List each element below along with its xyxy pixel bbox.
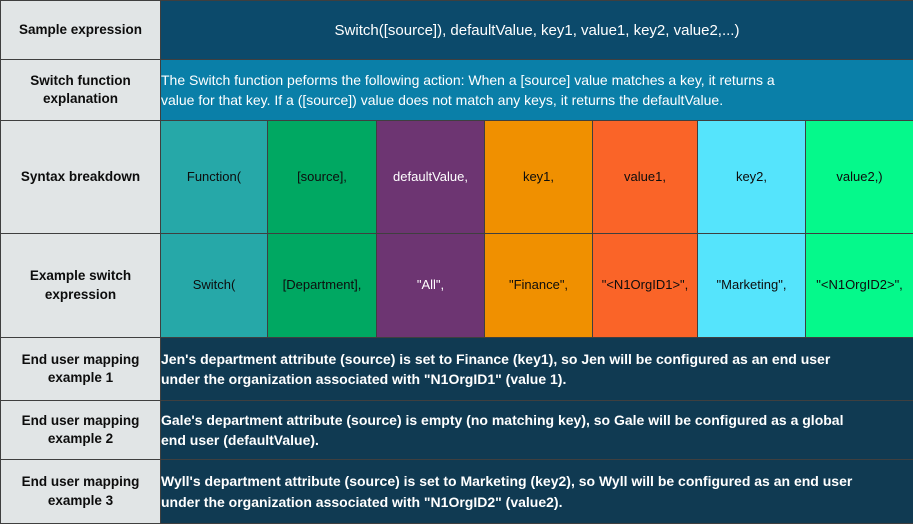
row-label-line-1: Example switch <box>1 267 160 285</box>
mapping-3-line-1: Wyll's department attribute (source) is … <box>161 471 913 491</box>
example-segment-n1orgid1: "<N1OrgID1>", <box>593 234 698 338</box>
example-segment-marketing: "Marketing", <box>698 234 806 338</box>
row-label-line-1: End user mapping <box>1 412 160 430</box>
example-segment-department: [Department], <box>268 234 377 338</box>
mapping-2-line-1: Gale's department attribute (source) is … <box>161 410 913 430</box>
row-label-line-2: example 2 <box>1 430 160 448</box>
row-example-switch-expression: Example switch expression Switch( [Depar… <box>1 234 913 338</box>
mapping-1-line-2: under the organization associated with "… <box>161 369 913 389</box>
syntax-segment-key1: key1, <box>485 121 593 234</box>
syntax-segment-value1: value1, <box>593 121 698 234</box>
row-syntax-breakdown: Syntax breakdown Function( [source], def… <box>1 121 913 234</box>
row-end-user-mapping-example-2: End user mapping example 2 Gale's depart… <box>1 401 913 460</box>
row-sample-expression: Sample expression Switch([source]), defa… <box>1 1 913 60</box>
row-label-line-2: example 3 <box>1 492 160 510</box>
row-label-sample-expression: Sample expression <box>1 1 161 60</box>
row-label-syntax-breakdown: Syntax breakdown <box>1 121 161 234</box>
row-end-user-mapping-example-1: End user mapping example 1 Jen's departm… <box>1 338 913 401</box>
switch-function-reference-table: Sample expression Switch([source]), defa… <box>0 0 913 524</box>
example-segment-finance: "Finance", <box>485 234 593 338</box>
row-label-end-user-mapping-2: End user mapping example 2 <box>1 401 161 460</box>
row-label-line-2: expression <box>1 286 160 304</box>
syntax-segment-function: Function( <box>161 121 268 234</box>
mapping-3-line-2: under the organization associated with "… <box>161 492 913 512</box>
row-label-line-1: End user mapping <box>1 351 160 369</box>
explanation-text: The Switch function peforms the followin… <box>161 60 913 121</box>
syntax-segment-key2: key2, <box>698 121 806 234</box>
example-segment-all: "All", <box>377 234 485 338</box>
mapping-2-line-2: end user (defaultValue). <box>161 430 913 450</box>
row-label-end-user-mapping-1: End user mapping example 1 <box>1 338 161 401</box>
row-switch-function-explanation: Switch function explanation The Switch f… <box>1 60 913 121</box>
mapping-example-1-text: Jen's department attribute (source) is s… <box>161 338 913 401</box>
row-label-line-2: explanation <box>1 90 160 108</box>
row-end-user-mapping-example-3: End user mapping example 3 Wyll's depart… <box>1 460 913 524</box>
explanation-line-1: The Switch function peforms the followin… <box>161 70 913 90</box>
syntax-segment-value2: value2,) <box>806 121 913 234</box>
explanation-line-2: value for that key. If a ([source]) valu… <box>161 90 913 110</box>
example-segment-switch: Switch( <box>161 234 268 338</box>
row-label-line-1: End user mapping <box>1 473 160 491</box>
row-label-end-user-mapping-3: End user mapping example 3 <box>1 460 161 524</box>
sample-expression-value: Switch([source]), defaultValue, key1, va… <box>161 1 913 60</box>
mapping-example-2-text: Gale's department attribute (source) is … <box>161 401 913 460</box>
mapping-example-3-text: Wyll's department attribute (source) is … <box>161 460 913 524</box>
syntax-segment-source: [source], <box>268 121 377 234</box>
example-segment-n1orgid2: "<N1OrgID2>", <box>806 234 913 338</box>
mapping-1-line-1: Jen's department attribute (source) is s… <box>161 349 913 369</box>
row-label-switch-function-explanation: Switch function explanation <box>1 60 161 121</box>
row-label-line-1: Switch function <box>1 72 160 90</box>
syntax-segment-defaultvalue: defaultValue, <box>377 121 485 234</box>
row-label-example-switch-expression: Example switch expression <box>1 234 161 338</box>
row-label-line-2: example 1 <box>1 369 160 387</box>
